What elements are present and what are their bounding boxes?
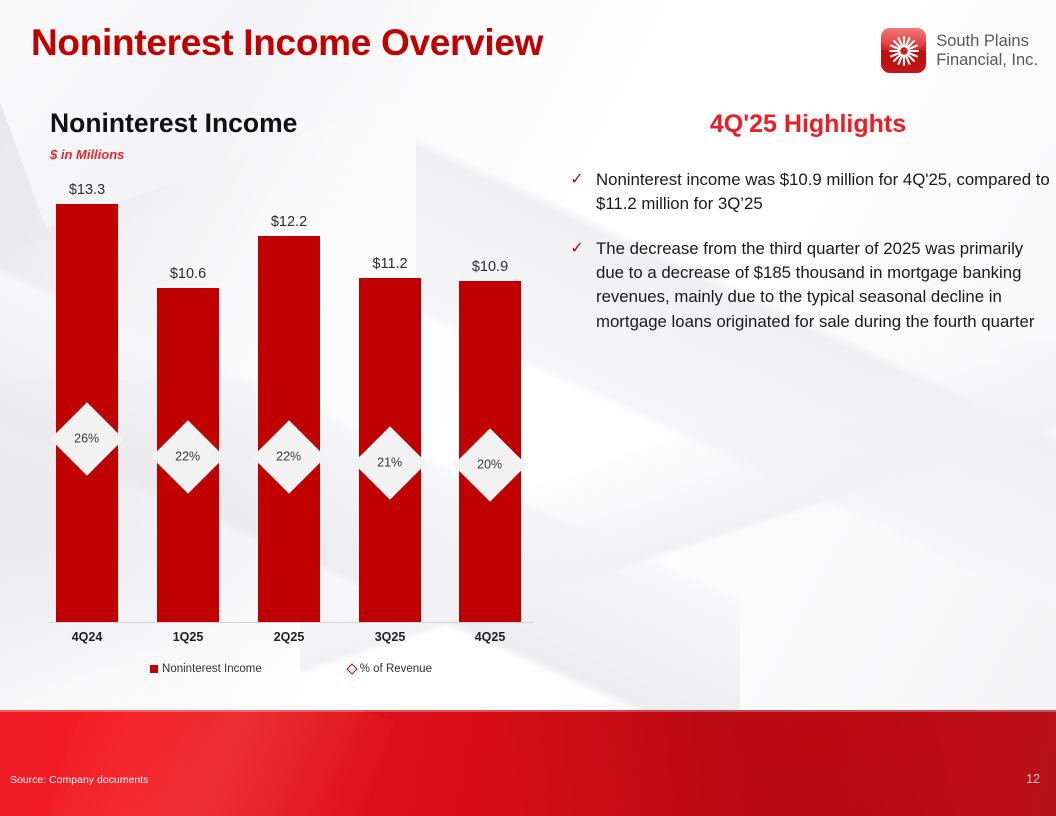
- highlight-bullet-1: ✓Noninterest income was $10.9 million fo…: [568, 168, 1056, 217]
- bar-value-label-2Q25: $12.2: [248, 214, 330, 230]
- bar-value-label-3Q25: $11.2: [349, 256, 431, 272]
- checkmark-icon: ✓: [568, 237, 586, 334]
- bar-value-label-4Q25: $10.9: [449, 259, 531, 275]
- highlight-bullet-text: The decrease from the third quarter of 2…: [596, 237, 1052, 334]
- page-number: 12: [1026, 772, 1040, 786]
- pct-of-revenue-label-1Q25: 22%: [175, 450, 200, 464]
- chart-panel: Noninterest Income $ in Millions $13.326…: [0, 0, 560, 700]
- pct-of-revenue-label-4Q25: 20%: [477, 458, 502, 472]
- pct-of-revenue-label-4Q24: 26%: [74, 432, 99, 446]
- checkmark-icon: ✓: [568, 168, 586, 217]
- highlights-panel: 4Q'25 Highlights ✓Noninterest income was…: [560, 0, 1056, 700]
- footer-band: Source: Company documents 12: [0, 710, 1056, 816]
- source-note: Source: Company documents: [10, 774, 148, 786]
- bar-chart-plot: $13.326%4Q24$10.622%1Q25$12.222%2Q25$11.…: [0, 0, 560, 660]
- highlights-title: 4Q'25 Highlights: [560, 110, 1056, 139]
- bar-value-label-1Q25: $10.6: [147, 266, 229, 282]
- highlights-bullet-list: ✓Noninterest income was $10.9 million fo…: [568, 168, 1056, 354]
- slide-root: Noninterest Income Overview: [0, 0, 1056, 816]
- legend-label: Noninterest Income: [162, 663, 262, 675]
- legend-label: % of Revenue: [360, 663, 432, 675]
- bar-value-label-4Q24: $13.3: [46, 182, 128, 198]
- x-axis-label-4Q24: 4Q24: [46, 630, 128, 644]
- x-axis-label-2Q25: 2Q25: [248, 630, 330, 644]
- pct-of-revenue-label-3Q25: 21%: [377, 456, 402, 470]
- legend-item-pct-of-revenue[interactable]: % of Revenue: [348, 663, 432, 675]
- x-axis-label-3Q25: 3Q25: [349, 630, 431, 644]
- chart-legend: Noninterest Income% of Revenue: [48, 663, 534, 675]
- pct-of-revenue-label-2Q25: 22%: [276, 450, 301, 464]
- highlight-bullet-text: Noninterest income was $10.9 million for…: [596, 168, 1052, 217]
- legend-item-noninterest-income[interactable]: Noninterest Income: [150, 663, 262, 675]
- x-axis-label-1Q25: 1Q25: [147, 630, 229, 644]
- highlight-bullet-2: ✓The decrease from the third quarter of …: [568, 237, 1056, 334]
- legend-diamond-icon: [346, 663, 357, 674]
- chart-baseline-axis: [48, 622, 534, 623]
- x-axis-label-4Q25: 4Q25: [449, 630, 531, 644]
- legend-square-icon: [150, 665, 158, 673]
